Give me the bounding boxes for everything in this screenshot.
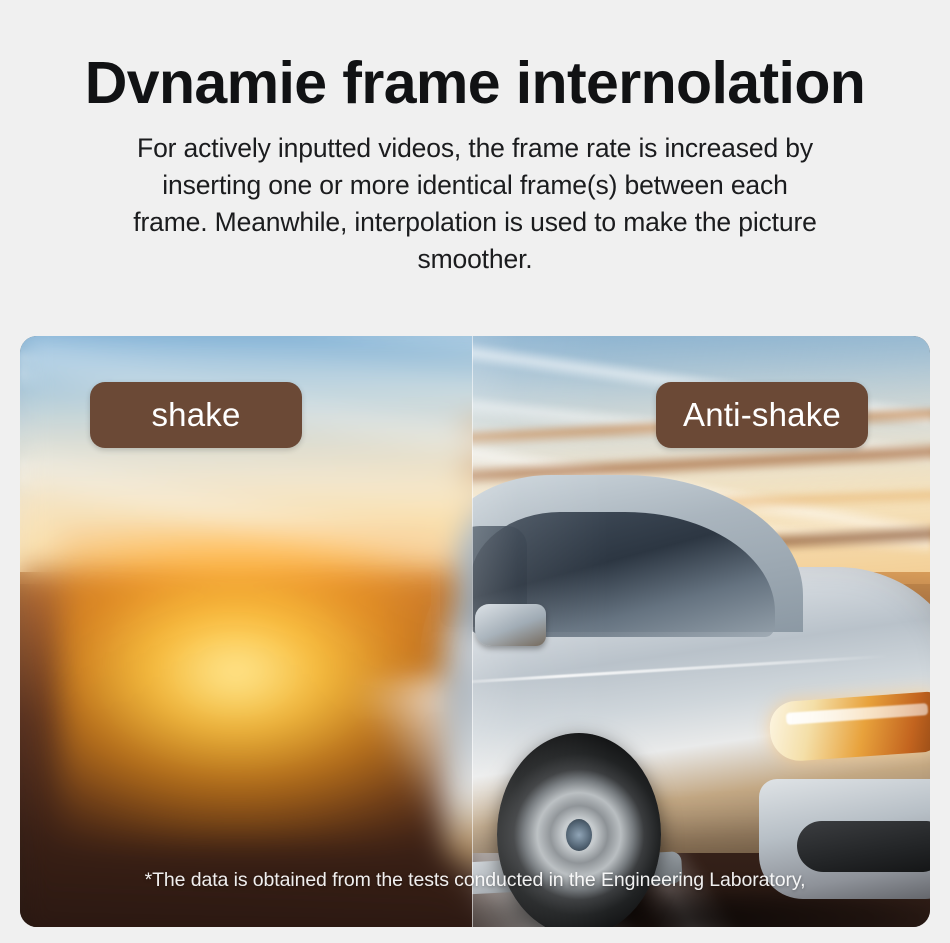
page-root: Dvnamie frame internolation For actively…	[0, 0, 950, 943]
car-illustration-blurred	[444, 456, 472, 927]
car-illustration	[420, 466, 930, 927]
comparison-media-card: shake Anti-shake *The data is obtained f…	[20, 336, 930, 927]
page-subtitle: For actively inputted videos, the frame …	[125, 130, 825, 277]
car-side-mirror	[475, 604, 546, 645]
footnote-disclaimer: *The data is obtained from the tests con…	[20, 867, 930, 895]
car-front-wheel	[497, 733, 661, 927]
car-air-intake	[797, 821, 930, 872]
car-headlight	[768, 691, 930, 763]
badge-anti-shake[interactable]: Anti-shake	[656, 382, 868, 448]
page-title: Dvnamie frame internolation	[0, 53, 950, 113]
badge-anti-shake-label: Anti-shake	[683, 396, 841, 434]
badge-shake[interactable]: shake	[90, 382, 302, 448]
car-roof-blurred	[456, 466, 472, 632]
badge-shake-label: shake	[151, 396, 240, 434]
header: Dvnamie frame internolation For actively…	[0, 0, 950, 277]
